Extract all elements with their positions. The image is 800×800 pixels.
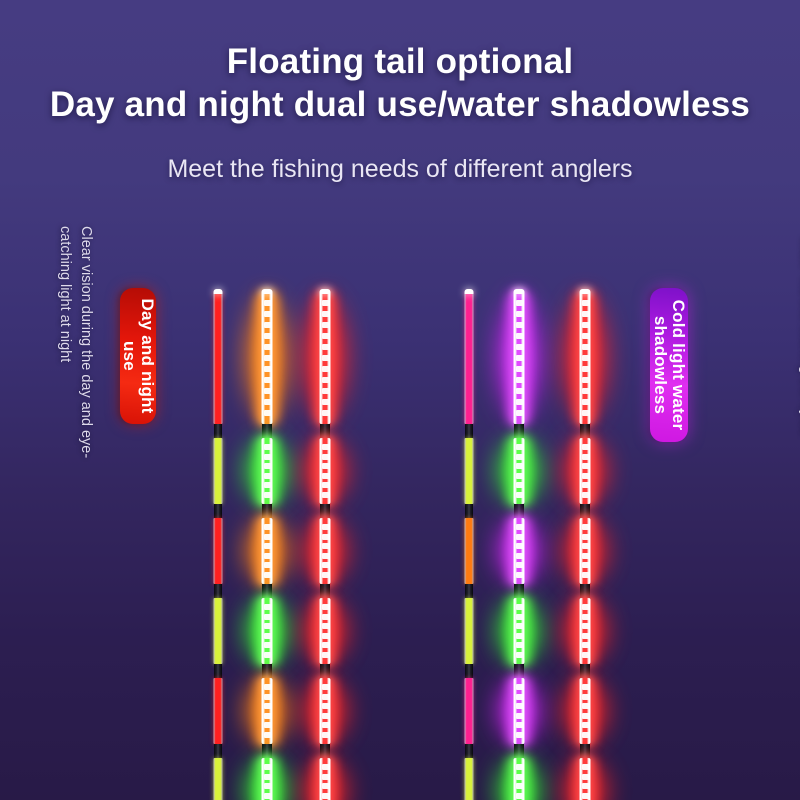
product-banner: Floating tail optional Day and night dua… bbox=[0, 0, 800, 800]
float-led-red-right bbox=[545, 0, 625, 800]
badge-day-and-night-use: Day and night use bbox=[120, 288, 156, 424]
description-day-and-night: Clear vision during the day and eye-catc… bbox=[54, 226, 96, 496]
float-led-red bbox=[285, 0, 365, 800]
headline-subtitle: Meet the fishing needs of different angl… bbox=[0, 155, 800, 184]
headline-block: Floating tail optional Day and night dua… bbox=[0, 42, 800, 124]
headline-line-2: Day and night dual use/water shadowless bbox=[0, 85, 800, 124]
description-cold-light: The light is soft and not dazzling, and … bbox=[795, 236, 800, 656]
badge-cold-light-water-shadowless: Cold light water shadowless bbox=[650, 288, 688, 442]
headline-line-1: Floating tail optional bbox=[0, 42, 800, 81]
